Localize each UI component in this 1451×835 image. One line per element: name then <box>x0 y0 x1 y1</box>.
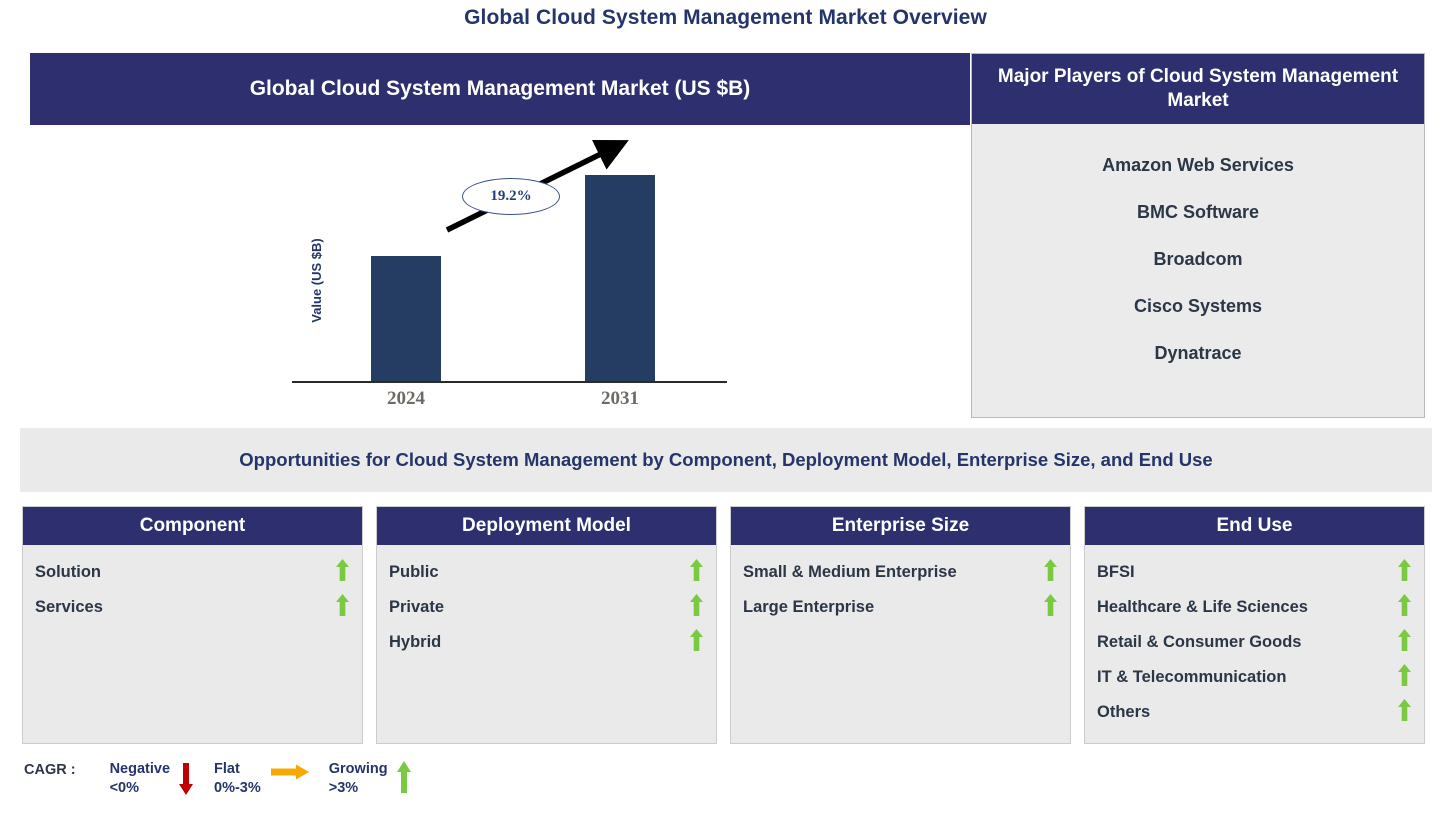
list-item: Broadcom <box>972 236 1424 283</box>
segment-card-list: Solution Services <box>23 545 362 743</box>
list-item: Private <box>389 590 704 625</box>
arrow-up-icon <box>1397 594 1412 621</box>
arrow-up-icon <box>1043 559 1058 586</box>
segment-item-label: BFSI <box>1097 563 1135 582</box>
cagr-value-badge: 19.2% <box>462 178 560 215</box>
list-item: Retail & Consumer Goods <box>1097 625 1412 660</box>
arrow-up-icon <box>689 559 704 586</box>
list-item: Hybrid <box>389 625 704 660</box>
arrow-up-icon <box>396 760 412 800</box>
arrow-down-icon <box>178 760 194 800</box>
major-players-title: Major Players of Cloud System Management… <box>992 65 1404 113</box>
arrow-up-icon <box>335 559 350 586</box>
segment-item-label: Services <box>35 598 103 617</box>
arrow-up-icon <box>689 629 704 656</box>
segment-card-title: Enterprise Size <box>832 515 969 537</box>
segment-item-label: Healthcare & Life Sciences <box>1097 598 1308 617</box>
list-item: IT & Telecommunication <box>1097 660 1412 695</box>
bar-2031 <box>585 175 655 381</box>
list-item: Others <box>1097 695 1412 730</box>
segment-card-list: BFSI Healthcare & Life Sciences Retail &… <box>1085 545 1424 743</box>
chart-panel-header: Global Cloud System Management Market (U… <box>30 53 970 125</box>
segment-cards-row: Component Solution Services Deployment M… <box>22 506 1432 744</box>
cagr-legend-range: 0%-3% <box>214 779 261 798</box>
segment-item-label: Retail & Consumer Goods <box>1097 633 1301 652</box>
list-item: Services <box>35 590 350 625</box>
cagr-value-text: 19.2% <box>490 188 531 205</box>
cagr-legend-item-growing: Growing >3% <box>329 760 420 800</box>
segment-card-title: End Use <box>1216 515 1292 537</box>
chart-plot-area: Value (US $B) 19.2% 2024 2031 Source : L… <box>30 125 970 418</box>
arrow-up-icon <box>1397 664 1412 691</box>
list-item: Public <box>389 555 704 590</box>
list-item: BFSI <box>1097 555 1412 590</box>
page-title: Global Cloud System Management Market Ov… <box>0 6 1451 30</box>
arrow-right-icon <box>269 760 309 800</box>
segment-card-header: Enterprise Size <box>731 507 1070 545</box>
major-players-header: Major Players of Cloud System Management… <box>972 54 1424 124</box>
segment-card-header: End Use <box>1085 507 1424 545</box>
segment-card-enterprise-size: Enterprise Size Small & Medium Enterpris… <box>730 506 1071 744</box>
cagr-legend-item-negative: Negative <0% <box>110 760 202 800</box>
segment-item-label: Hybrid <box>389 633 441 652</box>
arrow-up-icon <box>689 594 704 621</box>
segment-card-deployment-model: Deployment Model Public Private Hybrid <box>376 506 717 744</box>
arrow-up-icon <box>1397 629 1412 656</box>
arrow-up-icon <box>1043 594 1058 621</box>
cagr-growth-arrow-icon <box>30 125 970 418</box>
arrow-up-icon <box>335 594 350 621</box>
segment-card-header: Component <box>23 507 362 545</box>
chart-y-axis-label: Value (US $B) <box>309 238 324 323</box>
x-tick-2024: 2024 <box>346 388 466 410</box>
list-item: Solution <box>35 555 350 590</box>
segment-item-label: Large Enterprise <box>743 598 874 617</box>
segment-item-label: Public <box>389 563 439 582</box>
arrow-up-icon <box>1397 699 1412 726</box>
cagr-legend-name: Flat <box>214 760 261 779</box>
cagr-legend-range: <0% <box>110 779 170 798</box>
cagr-legend-name: Negative <box>110 760 170 779</box>
segment-card-title: Deployment Model <box>462 515 631 537</box>
segment-item-label: Solution <box>35 563 101 582</box>
segment-item-label: IT & Telecommunication <box>1097 668 1286 687</box>
chart-x-axis-line <box>292 381 727 383</box>
list-item: BMC Software <box>972 189 1424 236</box>
x-tick-2031: 2031 <box>560 388 680 410</box>
segment-card-header: Deployment Model <box>377 507 716 545</box>
list-item: Small & Medium Enterprise <box>743 555 1058 590</box>
market-chart-panel: Global Cloud System Management Market (U… <box>30 53 970 418</box>
segment-item-label: Private <box>389 598 444 617</box>
segment-card-title: Component <box>140 515 246 537</box>
opportunities-banner-text: Opportunities for Cloud System Managemen… <box>239 449 1212 471</box>
major-players-list: Amazon Web Services BMC Software Broadco… <box>972 124 1424 377</box>
segment-item-label: Others <box>1097 703 1150 722</box>
cagr-legend-range: >3% <box>329 779 388 798</box>
major-players-panel: Major Players of Cloud System Management… <box>971 53 1425 418</box>
list-item: Amazon Web Services <box>972 142 1424 189</box>
arrow-up-icon <box>1397 559 1412 586</box>
cagr-legend-item-flat: Flat 0%-3% <box>214 760 317 800</box>
list-item: Cisco Systems <box>972 283 1424 330</box>
cagr-legend-name: Growing <box>329 760 388 779</box>
segment-card-list: Small & Medium Enterprise Large Enterpri… <box>731 545 1070 743</box>
segment-card-list: Public Private Hybrid <box>377 545 716 743</box>
list-item: Large Enterprise <box>743 590 1058 625</box>
segment-item-label: Small & Medium Enterprise <box>743 563 957 582</box>
segment-card-end-use: End Use BFSI Healthcare & Life Sciences … <box>1084 506 1425 744</box>
bar-2024 <box>371 256 441 381</box>
list-item: Healthcare & Life Sciences <box>1097 590 1412 625</box>
cagr-legend: CAGR : Negative <0% Flat 0%-3% Growing >… <box>24 760 432 800</box>
chart-panel-title: Global Cloud System Management Market (U… <box>250 77 751 101</box>
list-item: Dynatrace <box>972 330 1424 377</box>
opportunities-banner: Opportunities for Cloud System Managemen… <box>20 428 1432 492</box>
cagr-legend-title: CAGR : <box>24 760 76 778</box>
segment-card-component: Component Solution Services <box>22 506 363 744</box>
